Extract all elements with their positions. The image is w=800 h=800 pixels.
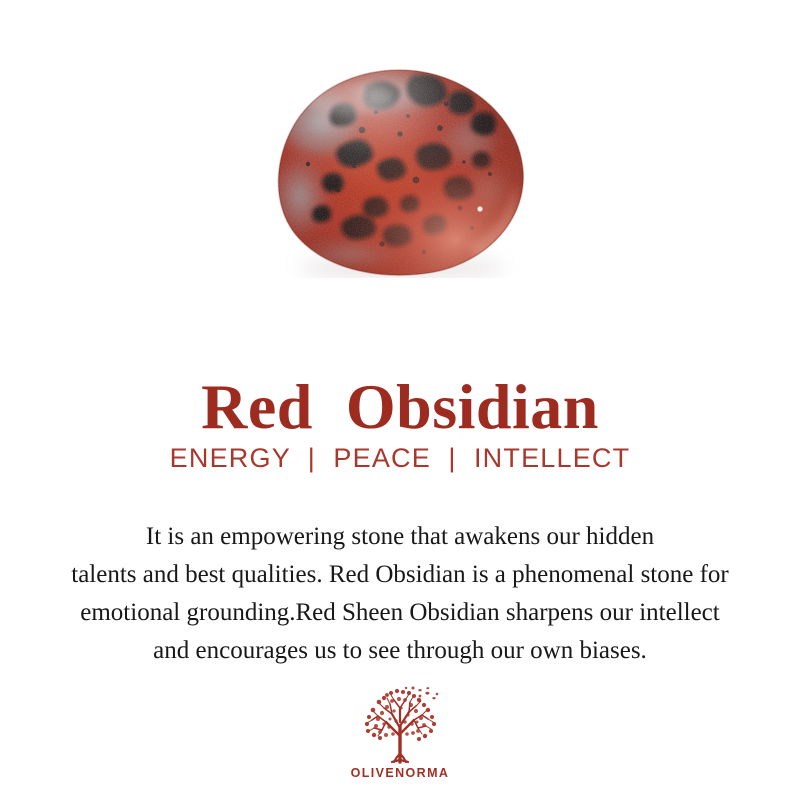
page-title: Red Obsidian: [0, 373, 800, 440]
description-line: and encourages us to see through our own…: [18, 632, 782, 670]
product-image: [0, 60, 800, 285]
brand-logo: OLIVENORMA: [0, 686, 800, 780]
description-line: talents and best qualities. Red Obsidian…: [18, 556, 782, 594]
description-text: It is an empowering stone that awakens o…: [18, 518, 782, 670]
red-obsidian-cabochon-stone: [274, 68, 526, 278]
description-line: emotional grounding.Red Sheen Obsidian s…: [18, 594, 782, 632]
description-line: It is an empowering stone that awakens o…: [18, 518, 782, 556]
brand-wordmark: OLIVENORMA: [351, 766, 450, 780]
keyword-line: ENERGY | PEACE | INTELLECT: [0, 442, 800, 474]
stone-info-card: Red Obsidian ENERGY | PEACE | INTELLECT …: [0, 0, 800, 800]
tree-logo-icon: [356, 686, 444, 764]
